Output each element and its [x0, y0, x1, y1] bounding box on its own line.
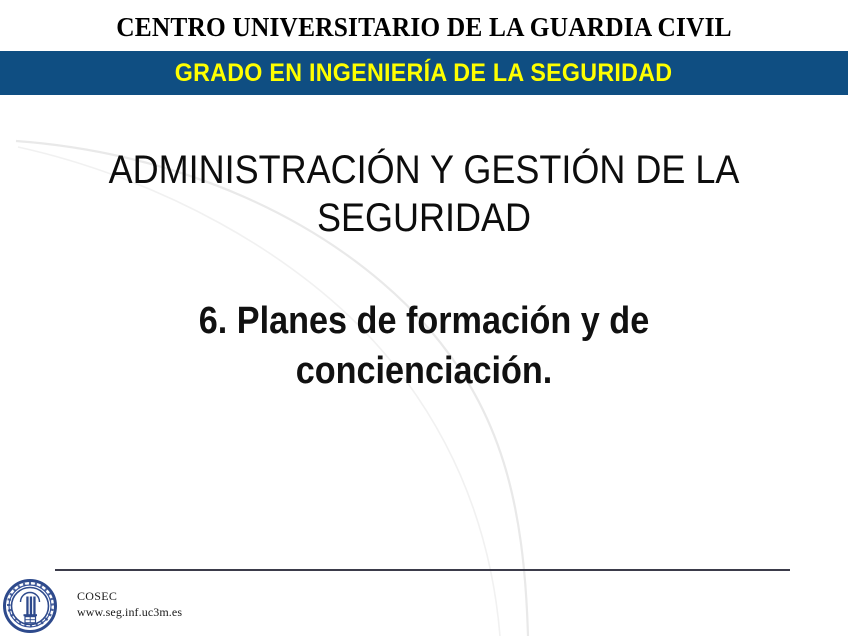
- uc3m-seal-logo: [2, 578, 58, 634]
- slide-title-line-1: ADMINISTRACIÓN Y GESTIÓN DE LA: [100, 146, 748, 194]
- slide-title-line-2: SEGURIDAD: [100, 194, 748, 242]
- slide-subtitle-line-1: 6. Planes de formación y de: [100, 296, 748, 346]
- footer-url: www.seg.inf.uc3m.es: [77, 604, 182, 620]
- slide-subtitle: 6. Planes de formación y de concienciaci…: [100, 296, 748, 396]
- presentation-slide: CENTRO UNIVERSITARIO DE LA GUARDIA CIVIL…: [0, 0, 848, 636]
- slide-subtitle-line-2: concienciación.: [100, 346, 748, 396]
- footer-organization: COSEC: [77, 588, 182, 604]
- degree-band-label: GRADO EN INGENIERÍA DE LA SEGURIDAD: [175, 59, 673, 87]
- degree-band: GRADO EN INGENIERÍA DE LA SEGURIDAD: [0, 51, 848, 95]
- institution-header: CENTRO UNIVERSITARIO DE LA GUARDIA CIVIL: [25, 11, 822, 43]
- footer-text: COSEC www.seg.inf.uc3m.es: [77, 588, 182, 620]
- footer-divider: [55, 569, 790, 571]
- slide-title: ADMINISTRACIÓN Y GESTIÓN DE LA SEGURIDAD: [100, 146, 748, 242]
